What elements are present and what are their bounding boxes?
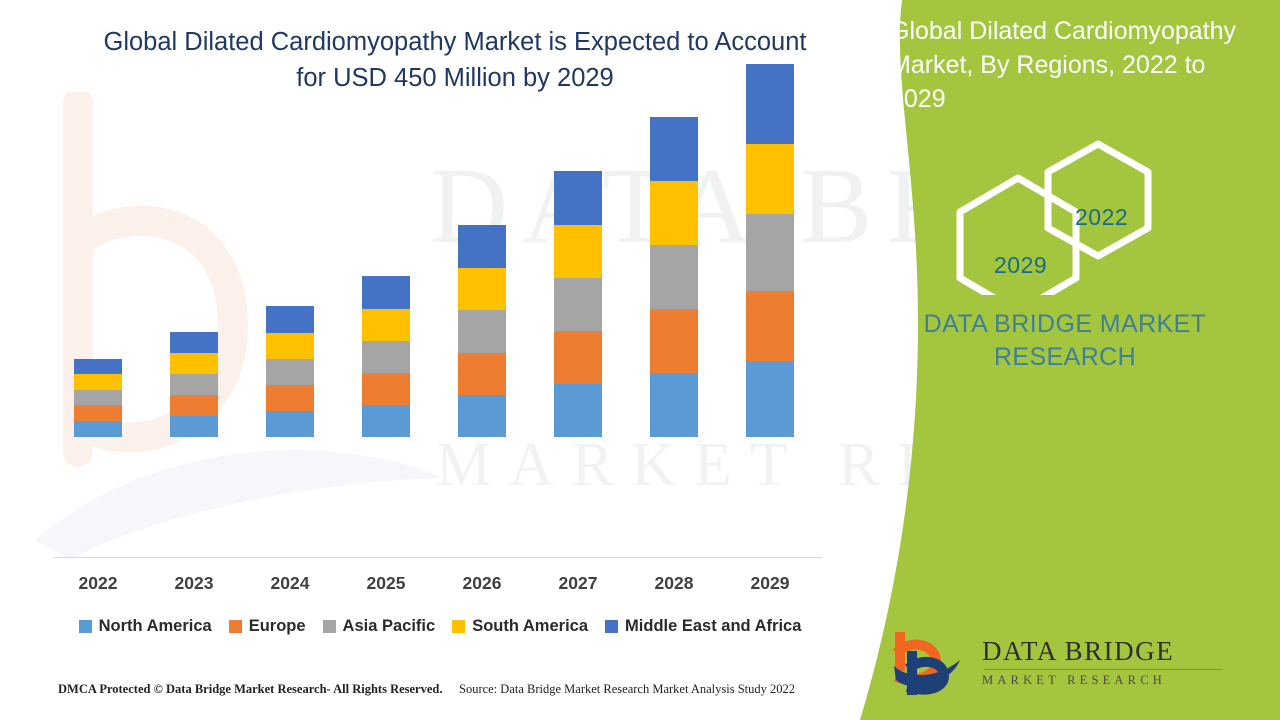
bar-segment — [74, 405, 122, 421]
bar-segment — [650, 245, 698, 309]
legend-swatch-icon — [229, 620, 242, 633]
bar-segment — [650, 373, 698, 437]
bar-2029 — [746, 64, 794, 437]
bar-segment — [170, 395, 218, 416]
bar-segment — [362, 276, 410, 309]
brand-name: DATA BRIDGE MARKET RESEARCH — [876, 308, 1254, 374]
bar-segment — [362, 341, 410, 373]
bar-segment — [554, 225, 602, 278]
source-text: Source: Data Bridge Market Research Mark… — [459, 682, 795, 697]
brand-name-line-2: RESEARCH — [876, 341, 1254, 374]
bar-segment — [746, 291, 794, 361]
company-logo: DATA BRIDGE MARKET RESEARCH — [870, 630, 1260, 700]
hexagon-outlines-icon — [950, 130, 1180, 295]
bar-segment — [170, 374, 218, 395]
bar-2027 — [554, 171, 602, 437]
copyright-text: DMCA Protected © Data Bridge Market Rese… — [58, 682, 443, 697]
bar-segment — [554, 384, 602, 437]
bar-segment — [74, 390, 122, 405]
hex-year-2022: 2022 — [1075, 204, 1128, 231]
bar-segment — [266, 411, 314, 437]
x-axis-line — [54, 557, 822, 558]
bar-segment — [650, 117, 698, 181]
x-axis-label-2028: 2028 — [634, 573, 714, 594]
legend-label: Europe — [249, 617, 306, 636]
x-axis-label-2024: 2024 — [250, 573, 330, 594]
bar-segment — [554, 278, 602, 331]
legend-label: South America — [472, 617, 588, 636]
bar-segment — [746, 64, 794, 144]
legend-label: Asia Pacific — [343, 617, 436, 636]
bar-2023 — [170, 332, 218, 437]
legend-swatch-icon — [605, 620, 618, 633]
logo-wordmark: DATA BRIDGE MARKET RESEARCH — [982, 636, 1232, 688]
x-axis-label-2025: 2025 — [346, 573, 426, 594]
stacked-bar-chart: 20222023202420252026202720282029 — [0, 0, 860, 600]
legend-swatch-icon — [452, 620, 465, 633]
logo-subtitle: MARKET RESEARCH — [982, 673, 1232, 688]
x-axis-label-2026: 2026 — [442, 573, 522, 594]
bar-segment — [458, 310, 506, 353]
bar-segment — [74, 374, 122, 390]
bar-segment — [458, 225, 506, 268]
bar-segment — [266, 385, 314, 411]
bar-segment — [74, 421, 122, 437]
bar-segment — [74, 359, 122, 374]
bar-segment — [554, 171, 602, 225]
bar-2022 — [74, 359, 122, 437]
x-axis-label-2029: 2029 — [730, 573, 810, 594]
legend-label: North America — [99, 617, 212, 636]
bar-2028 — [650, 117, 698, 437]
brand-name-line-1: DATA BRIDGE MARKET — [876, 308, 1254, 341]
bar-segment — [458, 353, 506, 395]
bar-segment — [650, 309, 698, 373]
bar-segment — [746, 214, 794, 291]
panel-title: Global Dilated Cardiomyopathy Market, By… — [890, 14, 1262, 116]
bar-segment — [458, 395, 506, 437]
bar-2026 — [458, 225, 506, 437]
infographic-canvas: DATA BRIDGE MARKET RESEARCH Global Dilat… — [0, 0, 1280, 720]
bar-segment — [362, 373, 410, 405]
bar-segment — [170, 353, 218, 374]
data-bridge-logo-icon — [890, 632, 976, 696]
x-axis-label-2027: 2027 — [538, 573, 618, 594]
x-axis-label-2022: 2022 — [58, 573, 138, 594]
legend-swatch-icon — [79, 620, 92, 633]
footer: DMCA Protected © Data Bridge Market Rese… — [0, 682, 860, 706]
logo-divider — [984, 669, 1222, 670]
logo-title: DATA BRIDGE — [982, 636, 1232, 667]
bar-segment — [746, 144, 794, 214]
legend-item[interactable]: Asia Pacific — [323, 617, 436, 636]
bar-segment — [266, 359, 314, 385]
bar-2025 — [362, 276, 410, 437]
bar-2024 — [266, 306, 314, 437]
bar-segment — [458, 268, 506, 310]
brand-panel: Global Dilated Cardiomyopathy Market, By… — [850, 0, 1280, 720]
bar-segment — [170, 416, 218, 437]
bar-segment — [554, 331, 602, 384]
bar-segment — [362, 309, 410, 341]
legend-item[interactable]: Middle East and Africa — [605, 617, 801, 636]
bar-segment — [650, 181, 698, 245]
bar-segment — [746, 361, 794, 437]
hex-year-2029: 2029 — [994, 252, 1047, 279]
chart-legend: North AmericaEuropeAsia PacificSouth Ame… — [40, 617, 840, 636]
hexagon-badges: 2022 2029 — [950, 130, 1180, 295]
legend-item[interactable]: North America — [79, 617, 212, 636]
legend-item[interactable]: South America — [452, 617, 588, 636]
legend-label: Middle East and Africa — [625, 617, 801, 636]
bar-segment — [266, 333, 314, 359]
bar-segment — [170, 332, 218, 353]
x-axis-label-2023: 2023 — [154, 573, 234, 594]
legend-item[interactable]: Europe — [229, 617, 306, 636]
legend-swatch-icon — [323, 620, 336, 633]
bar-segment — [362, 405, 410, 437]
bar-segment — [266, 306, 314, 333]
